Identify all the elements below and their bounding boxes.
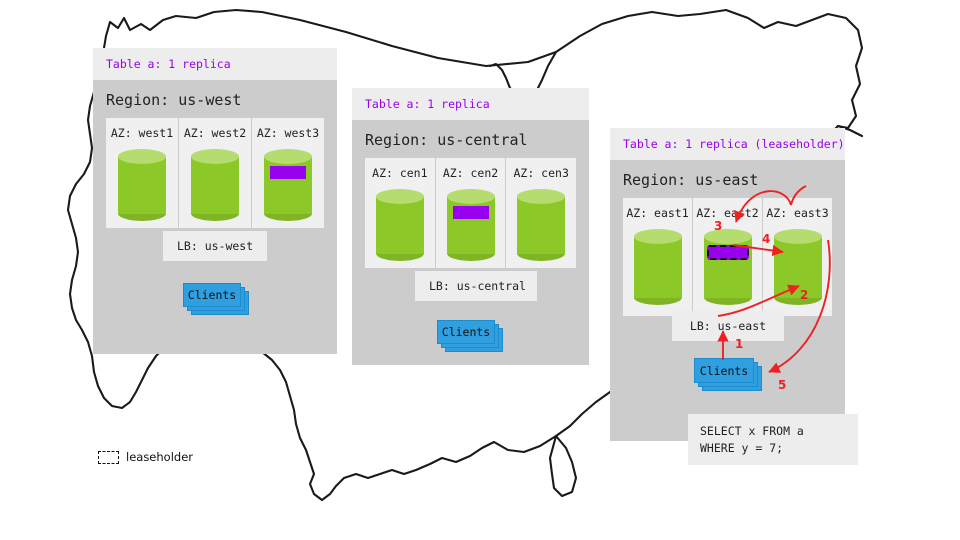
replica-box-west3[interactable] (270, 166, 306, 179)
cylinder-body (774, 236, 822, 298)
az-cell-east3[interactable]: AZ: east3 (763, 198, 832, 316)
cylinder-top (264, 149, 312, 164)
cylinder-top (191, 149, 239, 164)
leaseholder-swatch-icon (98, 451, 119, 464)
cylinder-top (517, 189, 565, 204)
node-cylinder-west3[interactable] (264, 149, 312, 221)
cylinder-top (447, 189, 495, 204)
cylinder-body (447, 196, 495, 254)
region-body-us-east: Region: us-east AZ: east1 AZ: east2 (610, 160, 845, 441)
cylinder-body (634, 236, 682, 298)
load-balancer-us-west[interactable]: LB: us-west (163, 231, 267, 261)
cylinder-body (191, 156, 239, 214)
load-balancer-us-central[interactable]: LB: us-central (415, 271, 537, 301)
cylinder-body (376, 196, 424, 254)
node-cylinder-east2[interactable] (704, 229, 752, 305)
cylinder-top (376, 189, 424, 204)
sql-query-box: SELECT x FROM a WHERE y = 7; (688, 414, 858, 465)
node-cylinder-cen3[interactable] (517, 189, 565, 261)
flow-step-number-5: 5 (778, 378, 786, 392)
region-title-us-west: Region: us-west (93, 80, 337, 118)
az-cell-cen1[interactable]: AZ: cen1 (365, 158, 436, 268)
region-panel-us-east: Table a: 1 replica (leaseholder) Region:… (610, 128, 845, 441)
clients-label-us-central[interactable]: Clients (437, 320, 495, 344)
az-cell-cen2[interactable]: AZ: cen2 (436, 158, 507, 268)
cylinder-body (517, 196, 565, 254)
cylinder-top (774, 229, 822, 244)
az-cell-east1[interactable]: AZ: east1 (623, 198, 693, 316)
cylinder-body (264, 156, 312, 214)
load-balancer-us-east[interactable]: LB: us-east (672, 311, 784, 341)
replica-box-cen2[interactable] (453, 206, 489, 219)
diagram-canvas: Table a: 1 replica Region: us-west AZ: w… (0, 0, 960, 540)
flow-step-number-3: 3 (714, 219, 722, 233)
node-cylinder-east1[interactable] (634, 229, 682, 305)
clients-stack-us-east[interactable]: Clients (694, 358, 764, 393)
replica-box-east2-leaseholder[interactable] (707, 245, 749, 260)
az-label-cen1: AZ: cen1 (365, 166, 435, 180)
cylinder-body (118, 156, 166, 214)
az-label-east1: AZ: east1 (623, 206, 692, 220)
az-cell-east2[interactable]: AZ: east2 (693, 198, 763, 316)
az-label-west3: AZ: west3 (252, 126, 324, 140)
replica-band-us-west: Table a: 1 replica (93, 48, 337, 80)
legend-label: leaseholder (126, 450, 193, 464)
az-cell-west3[interactable]: AZ: west3 (252, 118, 324, 228)
az-cell-west1[interactable]: AZ: west1 (106, 118, 179, 228)
node-cylinder-west2[interactable] (191, 149, 239, 221)
clients-stack-us-west[interactable]: Clients (183, 283, 249, 316)
cylinder-top (704, 229, 752, 244)
az-row-us-central: AZ: cen1 AZ: cen2 (365, 158, 576, 268)
legend: leaseholder (98, 450, 193, 464)
flow-step-number-4: 4 (762, 232, 770, 246)
az-label-cen2: AZ: cen2 (436, 166, 506, 180)
node-cylinder-cen2[interactable] (447, 189, 495, 261)
cylinder-top (634, 229, 682, 244)
cylinder-top (118, 149, 166, 164)
node-cylinder-west1[interactable] (118, 149, 166, 221)
az-cell-west2[interactable]: AZ: west2 (179, 118, 252, 228)
region-panel-us-west: Table a: 1 replica Region: us-west AZ: w… (93, 48, 337, 354)
replica-band-us-east: Table a: 1 replica (leaseholder) (610, 128, 845, 160)
az-label-cen3: AZ: cen3 (506, 166, 576, 180)
az-cell-cen3[interactable]: AZ: cen3 (506, 158, 576, 268)
clients-label-us-west[interactable]: Clients (183, 283, 241, 307)
node-cylinder-east3[interactable] (774, 229, 822, 305)
flow-step-number-2: 2 (800, 288, 808, 302)
az-label-west1: AZ: west1 (106, 126, 178, 140)
clients-label-us-east[interactable]: Clients (694, 358, 754, 383)
flow-step-number-1: 1 (735, 337, 743, 351)
region-panel-us-central: Table a: 1 replica Region: us-central AZ… (352, 88, 589, 365)
region-title-us-east: Region: us-east (610, 160, 845, 198)
clients-stack-us-central[interactable]: Clients (437, 320, 503, 353)
az-label-east3: AZ: east3 (763, 206, 832, 220)
az-row-us-west: AZ: west1 AZ: west2 AZ (106, 118, 324, 228)
replica-band-us-central: Table a: 1 replica (352, 88, 589, 120)
az-label-west2: AZ: west2 (179, 126, 251, 140)
region-title-us-central: Region: us-central (352, 120, 589, 158)
az-label-east2: AZ: east2 (693, 206, 762, 220)
node-cylinder-cen1[interactable] (376, 189, 424, 261)
